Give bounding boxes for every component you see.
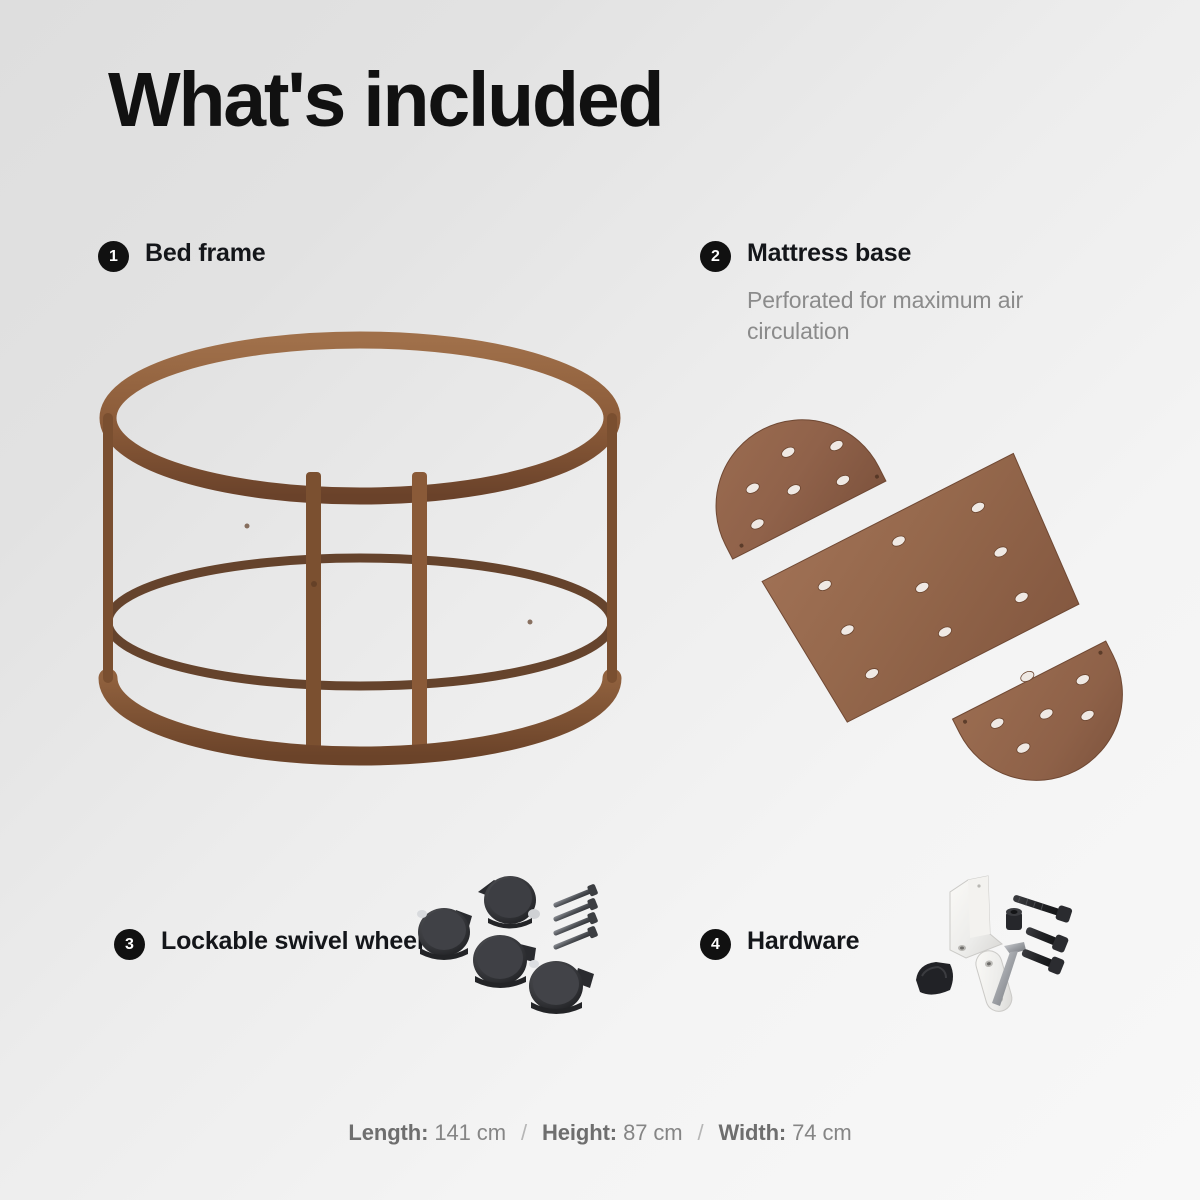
mattress-panel-bottom [949, 633, 1152, 785]
badge-number-1: 1 [98, 241, 129, 272]
rubber-cap [916, 962, 953, 995]
mattress-base-illustration [690, 405, 1160, 790]
item-mattress-base-label: Mattress base [747, 237, 911, 270]
badge-number-4: 4 [700, 929, 731, 960]
height-value: 87 cm [623, 1120, 682, 1145]
item-bed-frame-head: 1 Bed frame [98, 237, 265, 272]
wheel-screws [552, 884, 599, 953]
item-swivel-wheels: 3 Lockable swivel wheels [114, 925, 437, 960]
item-mattress-base-head: 2 Mattress base [700, 237, 1097, 272]
width-value: 74 cm [792, 1120, 851, 1145]
caster-wheel [473, 935, 536, 988]
page-title: What's included [108, 62, 662, 139]
width-key: Width: [719, 1120, 787, 1145]
short-bolt [1023, 922, 1069, 953]
badge-number-2: 2 [700, 241, 731, 272]
caster-wheel [417, 908, 472, 960]
caster-wheel [478, 876, 540, 929]
item-mattress-base-subtitle: Perforated for maximum air circulation [747, 285, 1097, 346]
hardware-illustration [906, 872, 1091, 1027]
dimensions-footer: Length: 141 cm / Height: 87 cm / Width: … [0, 1120, 1200, 1146]
height-key: Height: [542, 1120, 617, 1145]
badge-number-3: 3 [114, 929, 145, 960]
caster-wheel [529, 960, 594, 1014]
whats-included-infographic: What's included 1 Bed frame [0, 0, 1200, 1200]
separator-1: / [512, 1120, 536, 1145]
l-bracket [950, 876, 1002, 958]
bed-frame-illustration [60, 322, 660, 807]
item-bed-frame: 1 Bed frame [98, 237, 265, 272]
item-swivel-wheels-label: Lockable swivel wheels [161, 925, 437, 958]
item-hardware: 4 Hardware [700, 925, 859, 960]
item-hardware-label: Hardware [747, 925, 859, 958]
separator-2: / [689, 1120, 713, 1145]
item-mattress-base: 2 Mattress base Perforated for maximum a… [700, 237, 1097, 346]
item-swivel-wheels-head: 3 Lockable swivel wheels [114, 925, 437, 960]
crib-far-slats [138, 346, 556, 580]
item-hardware-head: 4 Hardware [700, 925, 859, 960]
length-key: Length: [348, 1120, 428, 1145]
swivel-wheels-illustration [408, 862, 638, 1032]
barrel-nut [1006, 908, 1022, 930]
length-value: 141 cm [434, 1120, 506, 1145]
item-bed-frame-label: Bed frame [145, 237, 265, 270]
